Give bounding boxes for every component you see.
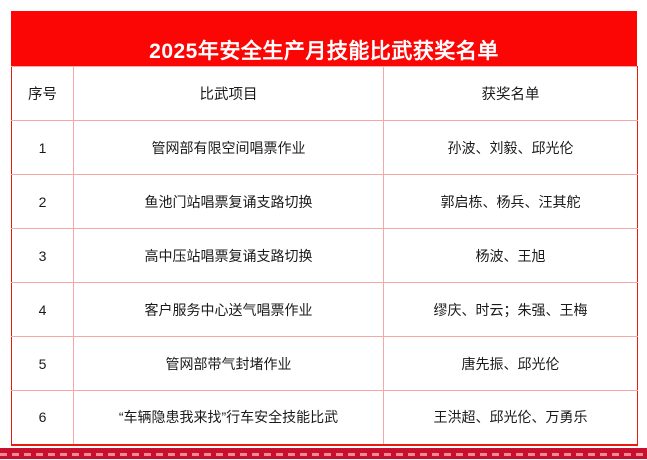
table-row: 4 客户服务中心送气唱票作业 缪庆、时云；朱强、王梅 — [12, 283, 638, 337]
award-table: 序号 比武项目 获奖名单 1 管网部有限空间唱票作业 孙波、刘毅、邱光伦 2 鱼… — [11, 66, 638, 446]
row-index: 3 — [12, 229, 74, 283]
row-winners: 缪庆、时云；朱强、王梅 — [384, 283, 638, 337]
row-event: 鱼池门站唱票复诵支路切换 — [74, 175, 384, 229]
footer-dashed-line — [0, 453, 647, 456]
row-event: 管网部带气封堵作业 — [74, 337, 384, 391]
row-winners: 孙波、刘毅、邱光伦 — [384, 121, 638, 175]
row-winners: 王洪超、邱光伦、万勇乐 — [384, 391, 638, 445]
table-row: 2 鱼池门站唱票复诵支路切换 郭启栋、杨兵、汪其舵 — [12, 175, 638, 229]
table-row: 3 高中压站唱票复诵支路切换 杨波、王旭 — [12, 229, 638, 283]
footer-decorative-bar — [0, 448, 647, 459]
column-header-no: 序号 — [12, 67, 74, 121]
table-header-row: 序号 比武项目 获奖名单 — [12, 67, 638, 121]
table-row: 5 管网部带气封堵作业 唐先振、邱光伦 — [12, 337, 638, 391]
table-row: 1 管网部有限空间唱票作业 孙波、刘毅、邱光伦 — [12, 121, 638, 175]
row-index: 1 — [12, 121, 74, 175]
row-winners: 唐先振、邱光伦 — [384, 337, 638, 391]
award-list-poster: 2025年安全生产月技能比武获奖名单 序号 比武项目 获奖名单 1 管网部有限空… — [0, 0, 647, 460]
award-table-body: 序号 比武项目 获奖名单 1 管网部有限空间唱票作业 孙波、刘毅、邱光伦 2 鱼… — [12, 67, 638, 445]
row-event: 管网部有限空间唱票作业 — [74, 121, 384, 175]
page-title: 2025年安全生产月技能比武获奖名单 — [149, 41, 499, 62]
row-index: 6 — [12, 391, 74, 445]
column-header-event: 比武项目 — [74, 67, 384, 121]
title-banner: 2025年安全生产月技能比武获奖名单 — [11, 11, 637, 66]
row-event: 客户服务中心送气唱票作业 — [74, 283, 384, 337]
table-row: 6 “车辆隐患我来找”行车安全技能比武 王洪超、邱光伦、万勇乐 — [12, 391, 638, 445]
row-event: “车辆隐患我来找”行车安全技能比武 — [74, 391, 384, 445]
row-winners: 郭启栋、杨兵、汪其舵 — [384, 175, 638, 229]
row-index: 4 — [12, 283, 74, 337]
row-index: 2 — [12, 175, 74, 229]
row-event: 高中压站唱票复诵支路切换 — [74, 229, 384, 283]
column-header-winners: 获奖名单 — [384, 67, 638, 121]
row-index: 5 — [12, 337, 74, 391]
row-winners: 杨波、王旭 — [384, 229, 638, 283]
